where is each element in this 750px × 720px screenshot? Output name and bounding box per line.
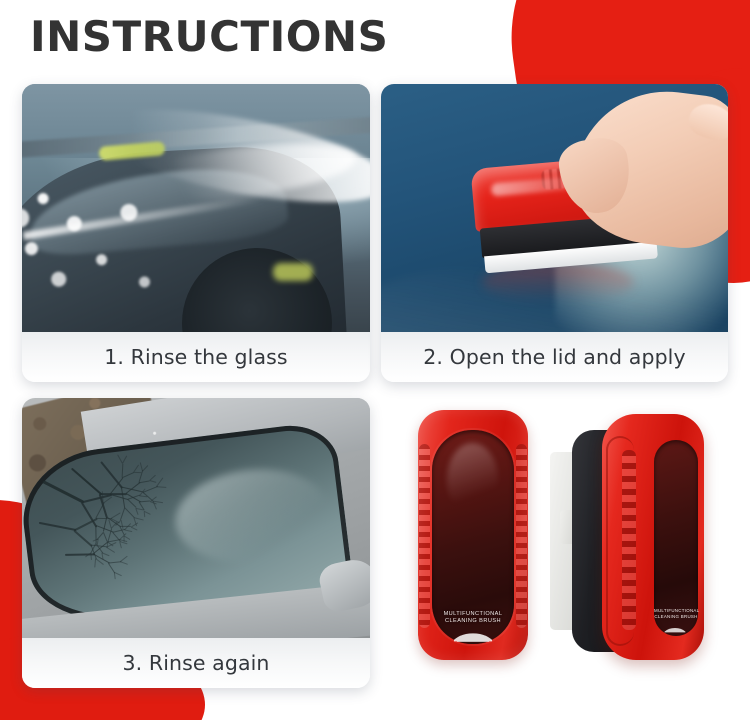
panel-gloss: [447, 443, 498, 516]
product-side-view: MULTIFUNCTIONAL CLEANING BRUSH: [550, 402, 710, 664]
photo-2-scene: [381, 84, 728, 332]
product-side-label-line-2: CLEANING BRUSH: [654, 614, 698, 620]
photo-rinse-again: [22, 398, 370, 638]
yellow-accent-2: [273, 263, 313, 281]
product-front-grip-left: [419, 444, 430, 628]
product-side-grip-ribs: [622, 450, 636, 630]
product-side-red-body: MULTIFUNCTIONAL CLEANING BRUSH: [602, 414, 704, 660]
hand-knuckles: [685, 99, 728, 145]
product-front-label: MULTIFUNCTIONAL CLEANING BRUSH: [418, 611, 528, 626]
step-caption-1: 1. Rinse the glass: [22, 332, 370, 382]
page-title: INSTRUCTIONS: [30, 12, 388, 61]
car-silhouette-logo-side: [663, 626, 687, 634]
step-caption-2: 2. Open the lid and apply: [381, 332, 728, 382]
product-showcase: MULTIFUNCTIONAL CLEANING BRUSH MULTIFUNC…: [400, 398, 740, 698]
product-side-label: MULTIFUNCTIONAL CLEANING BRUSH: [654, 608, 698, 620]
photo-1-scene: [22, 84, 370, 332]
step-caption-3: 3. Rinse again: [22, 638, 370, 688]
product-front-grip-right: [516, 444, 527, 628]
product-side-panel: [654, 440, 698, 636]
step-card-2: 2. Open the lid and apply: [381, 84, 728, 382]
instructions-infographic: INSTRUCTIONS 1. Rinse the: [0, 0, 750, 720]
product-front-view: MULTIFUNCTIONAL CLEANING BRUSH: [418, 410, 528, 660]
photo-rinse-the-glass: [22, 84, 370, 332]
product-front-label-line-2: CLEANING BRUSH: [418, 618, 528, 626]
step-card-1: 1. Rinse the glass: [22, 84, 370, 382]
step-card-3: 3. Rinse again: [22, 398, 370, 688]
photo-open-the-lid-and-apply: [381, 84, 728, 332]
photo-3-scene: [22, 398, 370, 638]
car-silhouette-logo: [451, 630, 495, 644]
